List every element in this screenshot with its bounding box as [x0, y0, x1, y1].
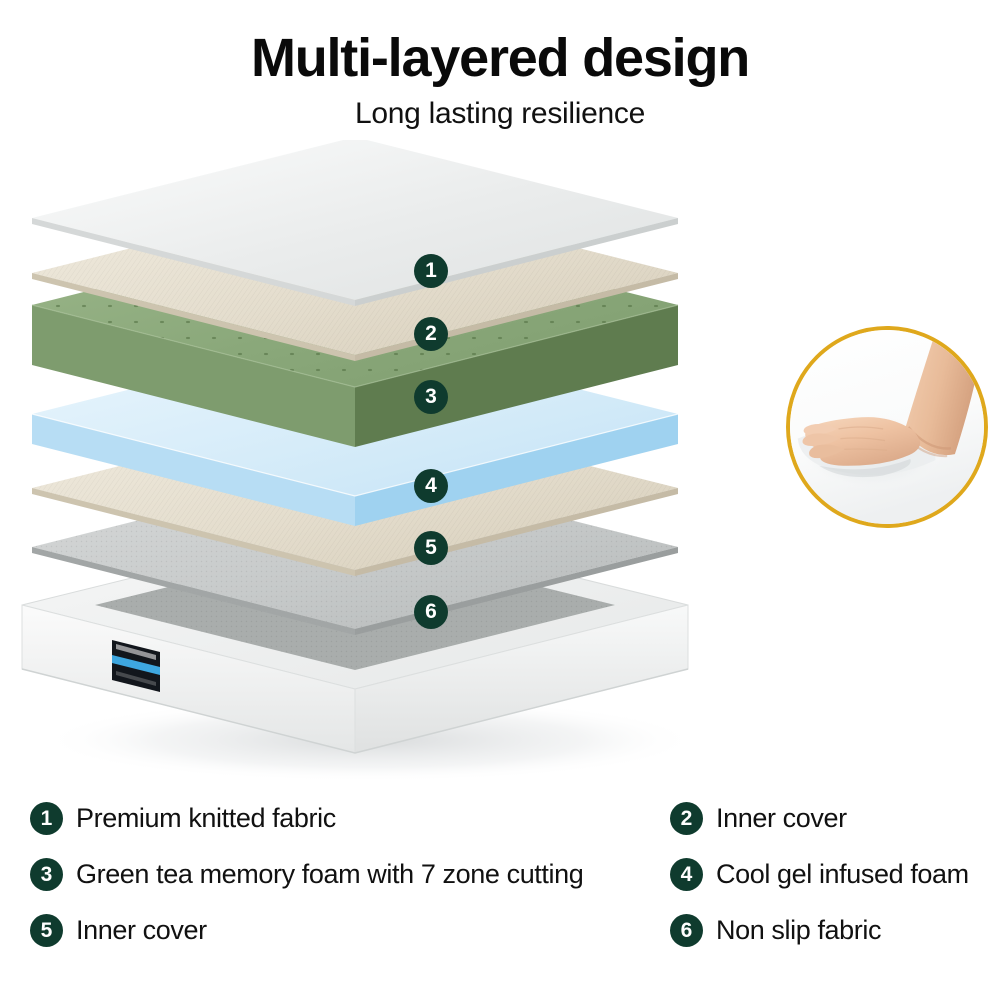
hand-press-inset-photo: [786, 326, 988, 528]
legend-label-6: Non slip fabric: [716, 915, 881, 946]
legend-item-4: 4 Cool gel infused foam: [670, 846, 1000, 902]
legend-label-1: Premium knitted fabric: [76, 803, 336, 834]
legend-item-3: 3 Green tea memory foam with 7 zone cutt…: [30, 846, 670, 902]
stack-badge-1: 1: [414, 254, 448, 288]
legend-badge-3: 3: [30, 858, 63, 891]
legend-item-6: 6 Non slip fabric: [670, 902, 1000, 958]
legend-badge-2: 2: [670, 802, 703, 835]
stack-badge-5: 5: [414, 531, 448, 565]
layers-illustration: [0, 140, 800, 780]
stack-badge-4: 4: [414, 469, 448, 503]
layer-legend: 1 Premium knitted fabric 3 Green tea mem…: [0, 790, 1000, 970]
stack-badge-2: 2: [414, 317, 448, 351]
legend-left-column: 1 Premium knitted fabric 3 Green tea mem…: [30, 790, 670, 958]
legend-label-4: Cool gel infused foam: [716, 859, 969, 890]
hand-pressing-foam-illustration: [790, 330, 984, 524]
legend-item-5: 5 Inner cover: [30, 902, 670, 958]
legend-badge-1: 1: [30, 802, 63, 835]
legend-badge-4: 4: [670, 858, 703, 891]
legend-right-column: 2 Inner cover 4 Cool gel infused foam 6 …: [670, 790, 1000, 958]
legend-item-2: 2 Inner cover: [670, 790, 1000, 846]
legend-item-1: 1 Premium knitted fabric: [30, 790, 670, 846]
exploded-layer-diagram: 1 2 3 4 5 6: [0, 140, 800, 780]
header: Multi-layered design Long lasting resili…: [0, 0, 1000, 131]
legend-label-2: Inner cover: [716, 803, 847, 834]
page-subtitle: Long lasting resilience: [0, 87, 1000, 131]
legend-badge-5: 5: [30, 914, 63, 947]
page-title: Multi-layered design: [0, 0, 1000, 87]
legend-badge-6: 6: [670, 914, 703, 947]
legend-label-3: Green tea memory foam with 7 zone cuttin…: [76, 859, 583, 890]
stack-badge-3: 3: [414, 380, 448, 414]
legend-label-5: Inner cover: [76, 915, 207, 946]
stack-badge-6: 6: [414, 595, 448, 629]
